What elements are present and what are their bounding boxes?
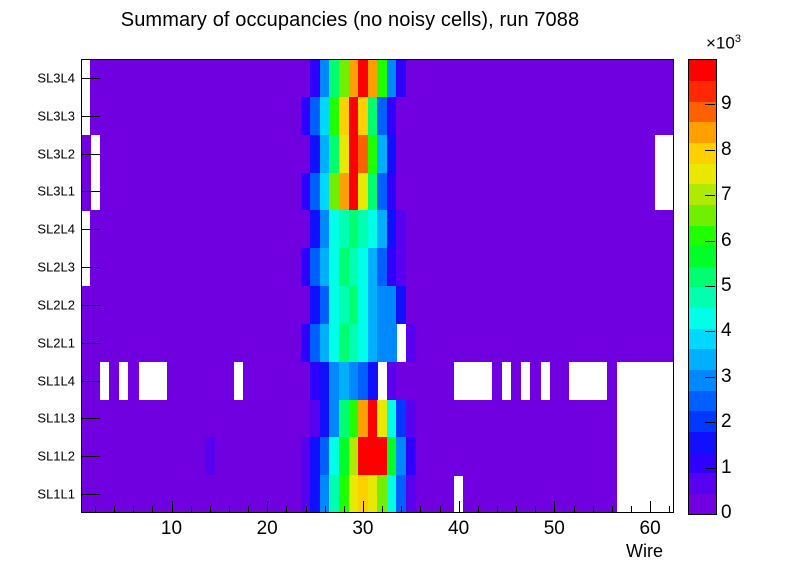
x-axis-minor-tick <box>612 506 613 513</box>
y-axis-tick <box>81 494 100 495</box>
x-axis-minor-tick <box>95 506 96 513</box>
x-axis-minor-tick <box>574 506 575 513</box>
heatmap-cell <box>664 59 674 97</box>
heatmap-cell <box>109 362 119 400</box>
y-axis-tick-label: SL3L2 <box>9 146 75 161</box>
color-scale-tick <box>705 331 715 332</box>
color-scale-band <box>689 163 716 184</box>
x-axis-minor-tick <box>516 506 517 513</box>
y-axis-tick-label: SL2L3 <box>9 260 75 275</box>
y-axis-tick-label: SL2L4 <box>9 222 75 237</box>
color-scale-band <box>689 349 716 370</box>
color-scale-tick-label: 5 <box>721 275 732 297</box>
y-axis-tick <box>81 343 100 344</box>
x-axis-minor-tick <box>248 506 249 513</box>
x-axis-major-tick <box>459 501 460 513</box>
y-axis-tick <box>81 267 100 268</box>
heatmap-cell <box>128 362 138 400</box>
color-scale-tick-label: 4 <box>721 320 732 342</box>
color-scale-tick-label: 1 <box>721 457 732 479</box>
heatmap-cell <box>387 324 397 362</box>
y-axis-tick-label: SL1L4 <box>9 373 75 388</box>
y-axis-tick <box>81 305 100 306</box>
x-axis-tick-label: 10 <box>161 518 182 540</box>
color-scale-tick-label: 2 <box>721 411 732 433</box>
heatmap-cell <box>444 362 454 400</box>
x-axis-minor-tick <box>229 506 230 513</box>
x-axis-major-tick <box>267 501 268 513</box>
x-axis-minor-tick <box>535 506 536 513</box>
heatmap-cell <box>664 286 674 324</box>
heatmap-cell <box>664 210 674 248</box>
x-axis-minor-tick <box>478 506 479 513</box>
color-scale-tick-label: 9 <box>721 93 732 115</box>
x-axis-minor-tick <box>401 506 402 513</box>
heatmap-cell <box>607 437 617 475</box>
heatmap-cell <box>664 97 674 135</box>
color-scale-band <box>689 493 716 514</box>
y-axis-tick-label: SL2L1 <box>9 335 75 350</box>
x-axis-title: Wire <box>626 541 663 562</box>
x-axis-minor-tick <box>593 506 594 513</box>
color-scale-tick-label: 8 <box>721 139 732 161</box>
x-axis-tick-label: 60 <box>640 518 661 540</box>
x-axis-minor-tick <box>344 506 345 513</box>
color-scale-tick <box>705 377 715 378</box>
y-axis-tick <box>81 456 100 457</box>
color-scale-band <box>689 246 716 267</box>
color-scale-band <box>689 266 716 287</box>
y-axis-tick <box>81 191 100 192</box>
heatmap-cell <box>664 324 674 362</box>
x-axis-minor-tick <box>497 506 498 513</box>
y-axis-tick-label: SL1L1 <box>9 487 75 502</box>
color-scale-tick <box>705 150 715 151</box>
x-axis-minor-tick <box>210 506 211 513</box>
heatmap-cell <box>492 362 502 400</box>
color-scale-tick <box>705 104 715 105</box>
color-scale-exponent-label: ×103 <box>706 33 741 54</box>
x-axis-major-tick <box>172 501 173 513</box>
y-axis-tick <box>81 418 100 419</box>
x-axis-minor-tick <box>133 506 134 513</box>
color-scale-tick <box>705 241 715 242</box>
color-scale-tick-label: 0 <box>721 502 732 524</box>
x-axis-minor-tick <box>440 506 441 513</box>
page-title: Summary of occupancies (no noisy cells),… <box>0 9 700 32</box>
x-axis-minor-tick <box>191 506 192 513</box>
x-axis-tick-label: 30 <box>352 518 373 540</box>
y-axis-tick <box>81 154 100 155</box>
heatmap-cell <box>559 362 569 400</box>
color-scale-band <box>689 143 716 164</box>
heatmap-cell <box>664 248 674 286</box>
color-scale-tick <box>705 468 715 469</box>
color-scale-band <box>689 225 716 246</box>
x-axis-minor-tick <box>669 506 670 513</box>
heatmap-cell <box>444 475 454 513</box>
color-scale-tick-label: 6 <box>721 230 732 252</box>
x-axis-minor-tick <box>152 506 153 513</box>
color-scale-exponent-power: 3 <box>735 33 741 45</box>
x-axis-tick-label: 40 <box>448 518 469 540</box>
heatmap-cell <box>530 362 540 400</box>
y-axis-tick <box>81 116 100 117</box>
x-axis-minor-tick <box>114 506 115 513</box>
color-scale-band <box>689 122 716 143</box>
heatmap-cell <box>607 400 617 438</box>
x-axis-minor-tick <box>325 506 326 513</box>
y-axis-tick <box>81 229 100 230</box>
color-scale-band <box>689 452 716 473</box>
heatmap-cell <box>511 362 521 400</box>
x-axis-minor-tick <box>631 506 632 513</box>
root-canvas: Summary of occupancies (no noisy cells),… <box>0 0 796 572</box>
color-scale-band <box>689 287 716 308</box>
heatmap-cell <box>368 362 378 400</box>
color-scale-band <box>689 473 716 494</box>
color-scale-band <box>689 308 716 329</box>
x-axis-tick-label: 50 <box>544 518 565 540</box>
color-scale-band <box>689 431 716 452</box>
heatmap-cell <box>224 362 234 400</box>
x-axis-major-tick <box>363 501 364 513</box>
y-axis-tick-label: SL3L1 <box>9 184 75 199</box>
x-axis-minor-tick <box>382 506 383 513</box>
x-axis-major-tick <box>650 501 651 513</box>
x-axis-tick-label: 20 <box>257 518 278 540</box>
heatmap-cell <box>607 362 617 400</box>
y-axis-tick <box>81 78 100 79</box>
y-axis-tick-label: SL1L2 <box>9 449 75 464</box>
y-axis-tick-label: SL2L2 <box>9 297 75 312</box>
color-scale-tick <box>705 286 715 287</box>
color-scale-band <box>689 390 716 411</box>
color-scale-band <box>689 370 716 391</box>
color-scale-tick-label: 7 <box>721 184 732 206</box>
heatmap-cell <box>645 135 655 173</box>
x-axis-minor-tick <box>286 506 287 513</box>
heatmap-plot-area[interactable] <box>81 59 674 513</box>
color-scale-tick <box>705 422 715 423</box>
color-scale-exponent-base: ×10 <box>706 34 735 53</box>
color-scale-band <box>689 204 716 225</box>
y-axis-tick <box>81 381 100 382</box>
heatmap-cell <box>645 173 655 211</box>
x-axis-minor-tick <box>420 506 421 513</box>
color-scale-bar[interactable] <box>688 59 717 515</box>
y-axis-tick-label: SL1L3 <box>9 411 75 426</box>
x-axis-minor-tick <box>306 506 307 513</box>
x-axis-major-tick <box>554 501 555 513</box>
color-scale-tick <box>705 195 715 196</box>
y-axis-tick-label: SL3L3 <box>9 108 75 123</box>
color-scale-band <box>689 81 716 102</box>
color-scale-tick-label: 3 <box>721 366 732 388</box>
color-scale-band <box>689 60 716 81</box>
y-axis-tick-label: SL3L4 <box>9 70 75 85</box>
